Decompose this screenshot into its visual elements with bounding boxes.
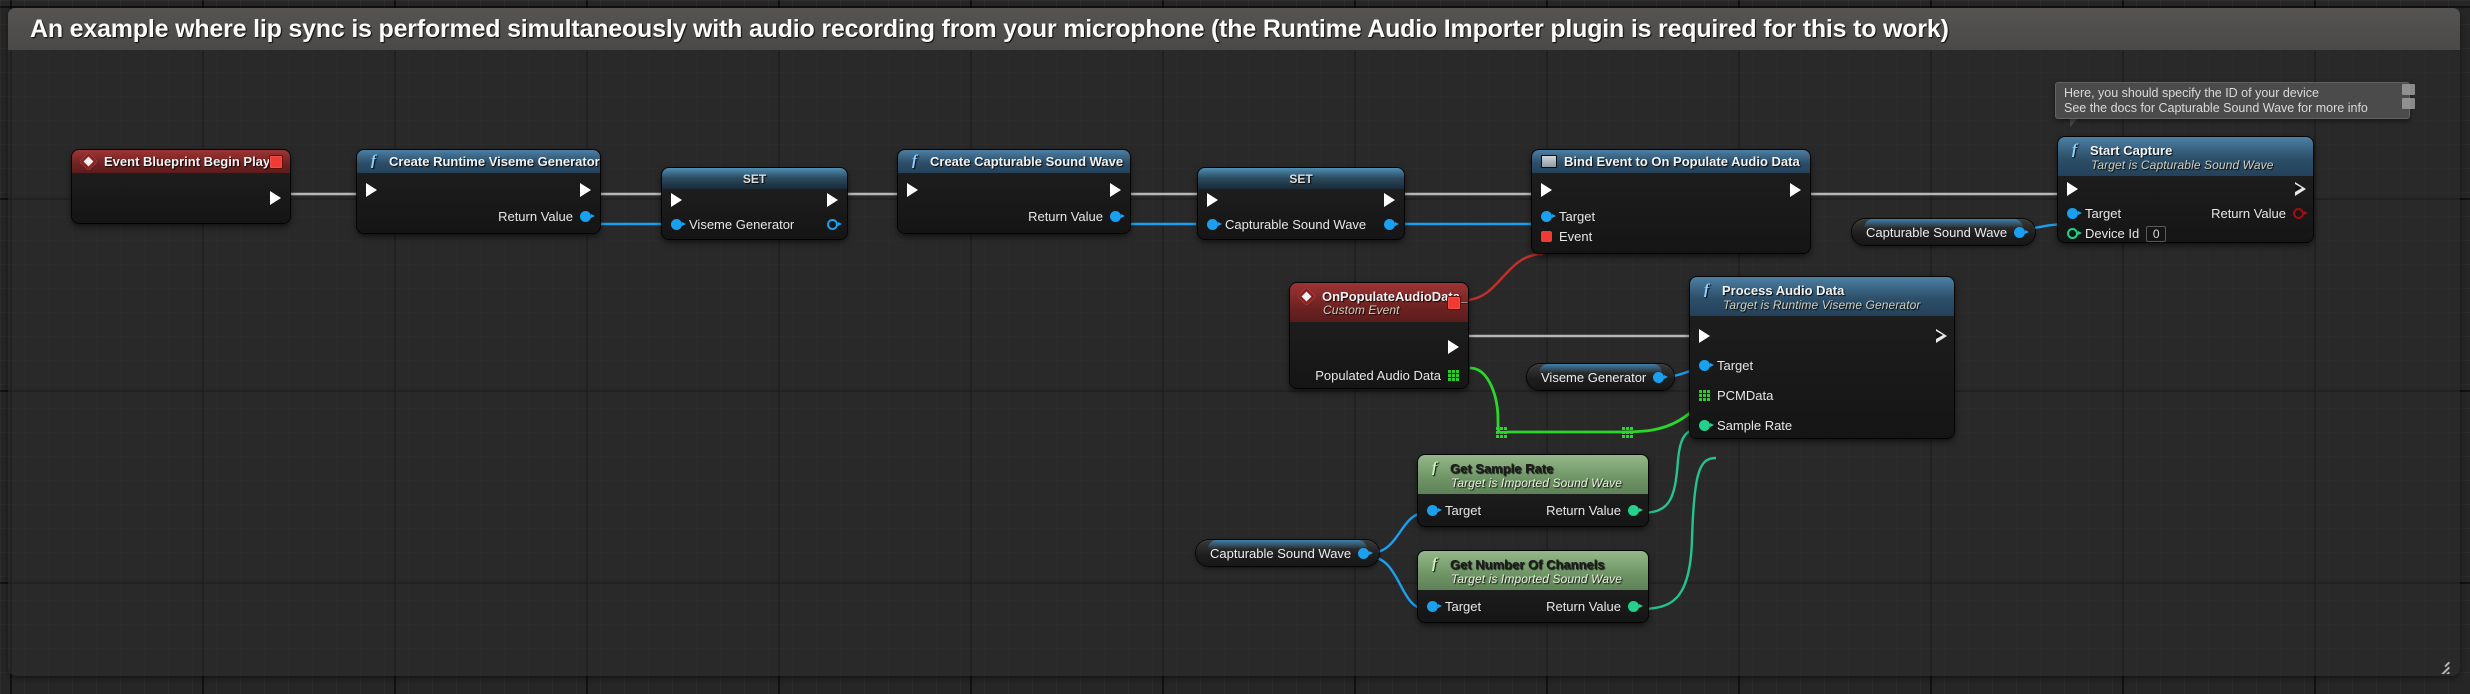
node-title: Event Blueprint Begin Play (104, 154, 270, 169)
target-label: Target (1717, 358, 1753, 373)
row-target-return: Target Return Value (1418, 501, 1648, 520)
node-create-runtime-viseme-generator[interactable]: f Create Runtime Viseme Generator Return… (357, 150, 600, 233)
variable-label: Viseme Generator (1541, 370, 1646, 385)
node-title: SET (743, 172, 766, 186)
target-pin[interactable] (1541, 211, 1552, 222)
viseme-generator-in-pin[interactable] (671, 219, 682, 230)
node-title: Create Runtime Viseme Generator (389, 154, 600, 169)
exec-out-pin[interactable] (2295, 182, 2304, 196)
exec-in-pin[interactable] (1541, 183, 1552, 197)
populated-audio-data-pin[interactable] (1448, 370, 1459, 381)
info-box-tail (2070, 118, 2078, 127)
node-header: SET (662, 168, 847, 189)
row-populated-audio-data: Populated Audio Data (1290, 366, 1468, 385)
target-label: Target (1559, 209, 1595, 224)
return-value-label: Return Value (1546, 599, 1621, 614)
node-header: f Process Audio Data Target is Runtime V… (1690, 277, 1954, 316)
row-event: Event (1532, 227, 1592, 246)
exec-out-pin[interactable] (580, 183, 591, 197)
row-target: Target (1690, 356, 1753, 375)
return-value-pin[interactable] (1110, 211, 1121, 222)
row-target-return: Target Return Value (2058, 204, 2313, 223)
device-id-label: Device Id (2085, 226, 2139, 241)
info-box-line-1: Here, you should specify the ID of your … (2064, 86, 2401, 101)
capturable-sound-wave-out-pin[interactable] (1384, 219, 1395, 230)
node-get-number-of-channels[interactable]: f Get Number Of Channels Target is Impor… (1418, 551, 1648, 622)
node-title: Get Sample Rate (1450, 461, 1553, 476)
event-diamond-icon (1298, 290, 1315, 303)
target-pin[interactable] (1427, 505, 1438, 516)
exec-in-pin[interactable] (1699, 329, 1710, 343)
exec-out-pin[interactable] (1936, 329, 1945, 343)
exec-out-pin[interactable] (827, 193, 838, 207)
node-body: Target Return Value (1418, 494, 1648, 526)
node-body: Target Event (1532, 173, 1810, 253)
node-set-capturable-sound-wave[interactable]: SET Capturable Sound Wave (1198, 168, 1404, 239)
exec-out-pin[interactable] (1110, 183, 1121, 197)
node-body: Return Value (898, 173, 1130, 233)
target-label: Target (1445, 503, 1481, 518)
row-return-value: Return Value (357, 207, 600, 226)
var-get-viseme-generator[interactable]: Viseme Generator (1527, 364, 1674, 390)
exec-in-pin[interactable] (1207, 193, 1218, 207)
node-body: Populated Audio Data (1290, 322, 1468, 388)
node-body (72, 173, 290, 223)
variable-out-pin[interactable] (1358, 548, 1369, 559)
node-header: SET (1198, 168, 1404, 189)
node-title: Create Capturable Sound Wave (930, 154, 1123, 169)
info-box-line-2: See the docs for Capturable Sound Wave f… (2064, 101, 2401, 116)
node-header: f Create Capturable Sound Wave (898, 150, 1130, 173)
node-subtitle: Target is Runtime Viseme Generator (1723, 298, 1921, 312)
event-label: Event (1559, 229, 1592, 244)
return-value-label: Return Value (1028, 209, 1103, 224)
var-get-capturable-sound-wave-right[interactable]: Capturable Sound Wave (1852, 219, 2035, 245)
return-value-pin[interactable] (580, 211, 591, 222)
node-title: Start Capture (2090, 143, 2172, 158)
viseme-generator-out-pin[interactable] (827, 219, 838, 230)
delegate-icon (1540, 155, 1557, 168)
function-icon: f (906, 153, 923, 170)
exec-out-pin[interactable] (1790, 183, 1801, 197)
exec-in-pin[interactable] (366, 183, 377, 197)
exec-out-pin[interactable] (1448, 340, 1459, 354)
node-process-audio-data[interactable]: f Process Audio Data Target is Runtime V… (1690, 277, 1954, 438)
pcmdata-pin[interactable] (1699, 390, 1710, 401)
event-delegate-out-pin[interactable] (1447, 296, 1461, 310)
event-diamond-icon (80, 155, 97, 168)
device-id-pin[interactable] (2067, 228, 2078, 239)
node-header: f Start Capture Target is Capturable Sou… (2058, 137, 2313, 176)
variable-label: Capturable Sound Wave (1210, 546, 1351, 561)
exec-in-pin[interactable] (2067, 182, 2078, 196)
node-body: Target Return Value Device Id 0 (2058, 176, 2313, 242)
node-subtitle: Custom Event (1323, 303, 1400, 317)
exec-out-pin[interactable] (1384, 193, 1395, 207)
return-value-label: Return Value (1546, 503, 1621, 518)
event-delegate-pin[interactable] (1541, 231, 1552, 242)
return-value-pin[interactable] (2293, 208, 2304, 219)
return-value-pin[interactable] (1628, 601, 1639, 612)
pin-tooltip-icon[interactable] (2402, 84, 2415, 95)
row-pcmdata: PCMData (1690, 386, 1773, 405)
row-sample-rate: Sample Rate (1690, 416, 1792, 435)
exec-in-pin[interactable] (671, 193, 682, 207)
node-body: Target PCMData Sample Rate Num Of Channe… (1690, 316, 1954, 438)
sample-rate-pin[interactable] (1699, 420, 1710, 431)
info-box: Here, you should specify the ID of your … (2055, 82, 2410, 119)
device-id-input[interactable]: 0 (2146, 226, 2166, 242)
row-return-value: Return Value (898, 207, 1130, 226)
node-title: SET (1289, 172, 1312, 186)
viseme-generator-label: Viseme Generator (689, 217, 794, 232)
node-body: Viseme Generator (662, 189, 847, 239)
row-viseme-generator: Viseme Generator (662, 215, 847, 234)
node-subtitle: Target is Imported Sound Wave (1451, 572, 1622, 586)
function-icon: f (1426, 556, 1443, 573)
row-device-id: Device Id 0 (2058, 224, 2166, 242)
target-pin[interactable] (2067, 208, 2078, 219)
exec-in-pin[interactable] (907, 183, 918, 197)
node-header: OnPopulateAudioData_Event Custom Event (1290, 283, 1468, 322)
exec-out-pin[interactable] (270, 191, 281, 205)
node-body: Return Value (357, 173, 600, 233)
function-icon: f (1426, 460, 1443, 477)
node-header: f Get Number Of Channels Target is Impor… (1418, 551, 1648, 590)
node-header: Bind Event to On Populate Audio Data (1532, 150, 1810, 173)
function-icon: f (1698, 282, 1715, 299)
node-create-capturable-sound-wave[interactable]: f Create Capturable Sound Wave Return Va… (898, 150, 1130, 233)
row-capturable-sound-wave: Capturable Sound Wave (1198, 215, 1404, 234)
return-value-pin[interactable] (1628, 505, 1639, 516)
node-custom-event-on-populate-audio-data[interactable]: OnPopulateAudioData_Event Custom Event P… (1290, 283, 1468, 388)
target-label: Target (1445, 599, 1481, 614)
capturable-sound-wave-in-pin[interactable] (1207, 219, 1218, 230)
variable-out-pin[interactable] (1653, 372, 1664, 383)
row-target: Target (1532, 207, 1595, 226)
node-body: Capturable Sound Wave (1198, 189, 1404, 239)
event-badge-icon (269, 155, 283, 169)
target-pin[interactable] (1699, 360, 1710, 371)
function-icon: f (2066, 142, 2083, 159)
variable-label: Capturable Sound Wave (1866, 225, 2007, 240)
return-value-label: Return Value (2211, 206, 2286, 221)
node-header: f Create Runtime Viseme Generator (357, 150, 600, 173)
populated-audio-data-label: Populated Audio Data (1315, 368, 1441, 383)
var-get-capturable-sound-wave-bottom[interactable]: Capturable Sound Wave (1196, 540, 1379, 566)
node-header: Event Blueprint Begin Play (72, 150, 290, 173)
target-pin[interactable] (1427, 601, 1438, 612)
pcmdata-label: PCMData (1717, 388, 1773, 403)
node-title: Bind Event to On Populate Audio Data (1564, 154, 1800, 169)
node-title: Get Number Of Channels (1450, 557, 1605, 572)
return-value-label: Return Value (498, 209, 573, 224)
node-set-viseme-generator[interactable]: SET Viseme Generator (662, 168, 847, 239)
sample-rate-label: Sample Rate (1717, 418, 1792, 433)
node-body: Target Return Value (1418, 590, 1648, 622)
node-start-capture[interactable]: f Start Capture Target is Capturable Sou… (2058, 137, 2313, 242)
comment-title[interactable]: An example where lip sync is performed s… (8, 8, 2460, 50)
variable-out-pin[interactable] (2014, 227, 2025, 238)
node-header: f Get Sample Rate Target is Imported Sou… (1418, 455, 1648, 494)
node-title: Process Audio Data (1722, 283, 1844, 298)
node-get-sample-rate[interactable]: f Get Sample Rate Target is Imported Sou… (1418, 455, 1648, 526)
target-label: Target (2085, 206, 2121, 221)
capturable-sound-wave-label: Capturable Sound Wave (1225, 217, 1366, 232)
comment-bubble-icon[interactable] (2402, 98, 2415, 109)
node-event-begin-play[interactable]: Event Blueprint Begin Play (72, 150, 290, 223)
node-subtitle: Target is Capturable Sound Wave (2091, 158, 2274, 172)
comment-resize-handle[interactable] (2432, 656, 2450, 674)
function-icon: f (365, 153, 382, 170)
node-subtitle: Target is Imported Sound Wave (1451, 476, 1622, 490)
node-bind-event-on-populate-audio-data[interactable]: Bind Event to On Populate Audio Data Tar… (1532, 150, 1810, 253)
info-box-icons[interactable] (2400, 84, 2416, 114)
row-target-return: Target Return Value (1418, 597, 1648, 616)
